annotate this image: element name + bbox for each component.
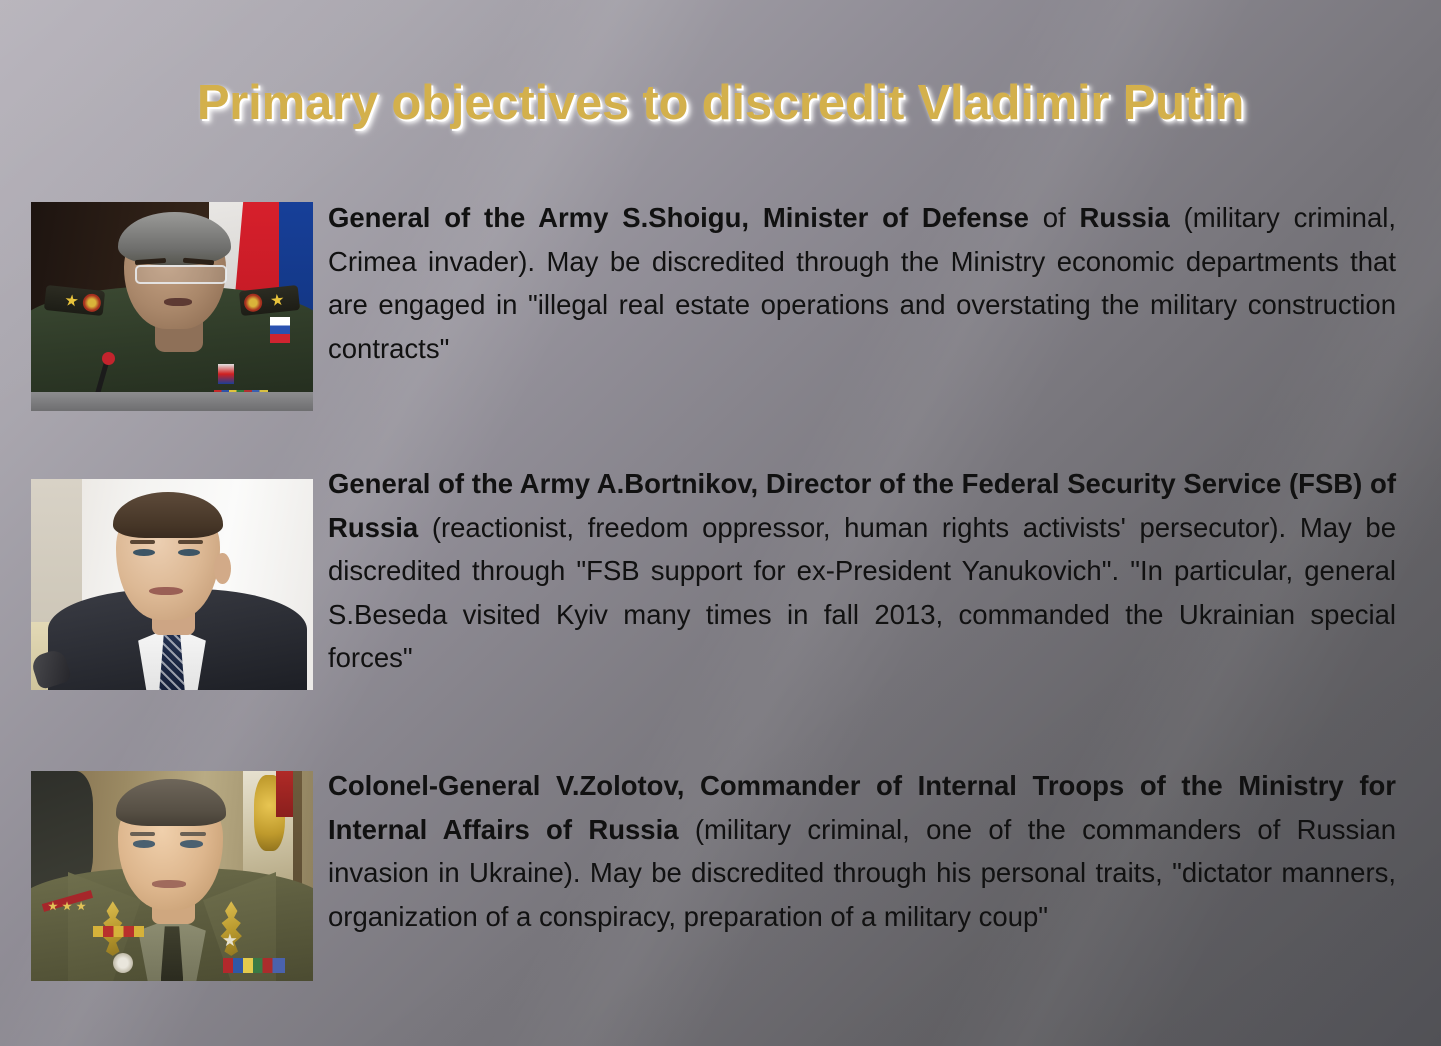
presentation-slide: Primary objectives to discredit Vladimir… <box>0 0 1441 1046</box>
ribbon-bar-upper <box>93 926 144 937</box>
mouth <box>164 298 192 306</box>
mouth <box>149 587 183 595</box>
medal-icon <box>218 364 234 384</box>
photo-bortnikov <box>31 479 313 690</box>
page-title: Primary objectives to discredit Vladimir… <box>0 75 1441 131</box>
photo-bortnikov-image <box>31 479 313 690</box>
uniform-emblem-icon <box>82 293 102 313</box>
photo-shoigu <box>31 202 313 411</box>
uniform-emblem-icon <box>242 293 262 313</box>
entry-text-zolotov: Colonel-General V.Zolotov, Commander of … <box>328 764 1396 938</box>
eyebrow-left <box>130 832 155 836</box>
entry-body-bortnikov: (reactionist, freedom oppressor, human r… <box>328 512 1396 674</box>
desk-surface <box>31 392 313 411</box>
wall-dark-panel <box>31 771 93 889</box>
photo-zolotov-image <box>31 771 313 981</box>
eye-left <box>133 840 156 847</box>
eye-right <box>180 840 203 847</box>
entry-lead-shoigu: General of the Army S.Shoigu, Minister o… <box>328 202 1029 233</box>
entry-lead-tail-shoigu: Russia <box>1080 202 1170 233</box>
rank-star-icon <box>270 293 284 307</box>
eyebrow-right <box>178 540 203 544</box>
flag-sleeve-patch <box>270 317 290 343</box>
entry-lead-mid-shoigu: of <box>1029 202 1080 233</box>
ribbon-bar <box>223 958 285 973</box>
entry-text-bortnikov: General of the Army A.Bortnikov, Directo… <box>328 462 1396 680</box>
photo-zolotov <box>31 771 313 981</box>
eye-right <box>178 549 201 556</box>
banner-red-stripe <box>276 771 293 817</box>
rank-star-icon <box>65 293 79 307</box>
microphone-icon <box>102 352 115 365</box>
eyebrow-left <box>130 540 155 544</box>
uniform-badge-icon <box>113 953 133 973</box>
eye-left <box>133 549 156 556</box>
mouth <box>152 880 186 887</box>
entry-text-shoigu: General of the Army S.Shoigu, Minister o… <box>328 196 1396 370</box>
eyebrow-right <box>180 832 205 836</box>
photo-shoigu-image <box>31 202 313 411</box>
eyeglasses-icon <box>135 265 226 285</box>
